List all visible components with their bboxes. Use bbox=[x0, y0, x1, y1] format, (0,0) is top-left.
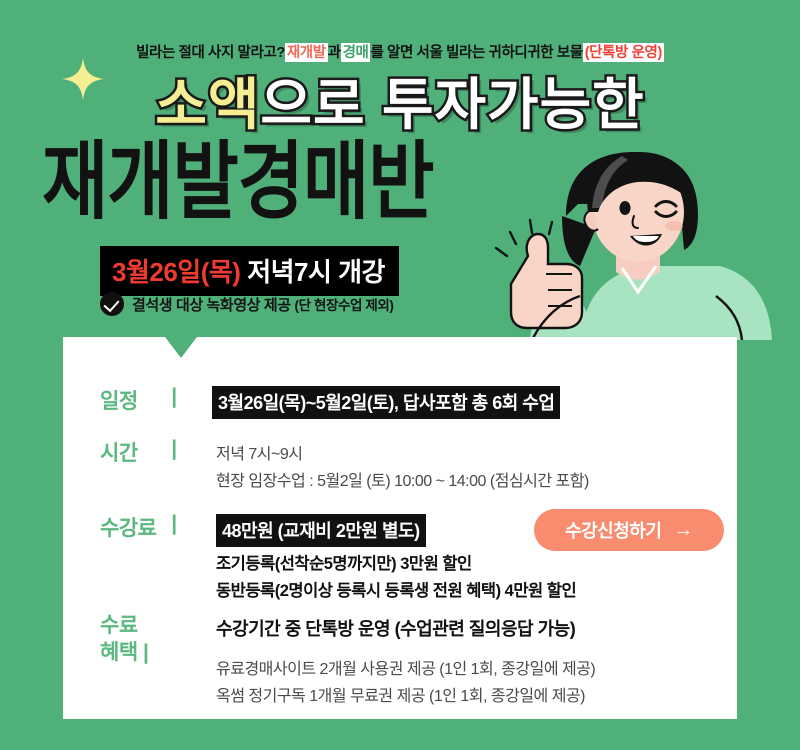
kicker-highlight-auction: 경매 bbox=[341, 43, 371, 62]
label-tuition: 수강료 | bbox=[100, 512, 186, 542]
label-tuition-bar: | bbox=[162, 512, 186, 542]
kicker-part2: 과 bbox=[328, 45, 341, 61]
recording-note-main: 결석생 대상 녹화영상 제공 bbox=[132, 297, 291, 314]
woman-thumbs-up-illustration bbox=[470, 150, 800, 340]
headline-highlight-small-amount: 소액 bbox=[155, 73, 260, 136]
label-schedule-bar: | bbox=[162, 385, 186, 415]
tuition-early-discount: 조기등록(선착순5명까지만) 3만원 할인 bbox=[216, 550, 576, 574]
label-benefits-line2: 혜택 | bbox=[100, 640, 148, 667]
info-row-time: 시간 | bbox=[100, 437, 186, 467]
kicker-highlight-chatroom: (단톡방 운영) bbox=[583, 43, 664, 62]
tuition-group-discount: 동반등록(2명이상 등록시 등록생 전원 혜택) 4만원 할인 bbox=[216, 577, 576, 601]
label-time-text: 시간 bbox=[100, 437, 162, 467]
value-schedule: 3월26일(목)~5월2일(토), 답사포함 총 6회 수업 bbox=[212, 386, 560, 422]
benefit-auction-site: 유료경매사이트 2개월 사용권 제공 (1인 1회, 종강일에 제공) bbox=[216, 655, 595, 679]
value-benefits: 수강기간 중 단톡방 운영 (수업관련 질의응답 가능) 유료경매사이트 2개월… bbox=[216, 615, 595, 709]
label-time-bar: | bbox=[162, 437, 186, 467]
headline-line-2: 재개발경매반 bbox=[42, 140, 433, 225]
label-schedule-text: 일정 bbox=[100, 385, 162, 415]
kicker-part3: 를 알면 서울 빌라는 귀하디귀한 보물 bbox=[370, 45, 582, 61]
card-notch-triangle bbox=[165, 337, 197, 358]
label-schedule: 일정 | bbox=[100, 385, 186, 415]
recording-note-row: 결석생 대상 녹화영상 제공 (단 현장수업 제외) bbox=[100, 292, 394, 316]
kicker-highlight-redevelopment: 재개발 bbox=[285, 43, 328, 62]
time-line-2: 현장 임장수업 : 5월2일 (토) 10:00 ~ 14:00 (점심시간 포… bbox=[216, 467, 589, 491]
start-date: 3월26일(목) bbox=[112, 257, 240, 287]
headline-line-1: 소액으로 투자가능한 bbox=[0, 77, 800, 133]
apply-button-label: 수강신청하기 bbox=[565, 517, 661, 543]
kicker-part1: 빌라는 절대 사지 말라고? bbox=[136, 45, 285, 61]
time-line-1: 저녁 7시~9시 bbox=[216, 440, 589, 464]
info-row-benefits: 수료 혜택 | bbox=[100, 613, 148, 667]
kicker-line: 빌라는 절대 사지 말라고?재개발과경매를 알면 서울 빌라는 귀하디귀한 보물… bbox=[0, 41, 800, 62]
check-circle-icon bbox=[100, 292, 124, 316]
benefit-oksum-subscription: 옥썸 정기구독 1개월 무료권 제공 (1인 1회, 종강일에 제공) bbox=[216, 682, 595, 706]
value-time: 저녁 7시~9시 현장 임장수업 : 5월2일 (토) 10:00 ~ 14:0… bbox=[216, 440, 589, 494]
tuition-highlight: 48만원 (교재비 2만원 별도) bbox=[216, 514, 426, 547]
apply-button[interactable]: 수강신청하기 → bbox=[534, 509, 724, 551]
schedule-highlight: 3월26일(목)~5월2일(토), 답사포함 총 6회 수업 bbox=[212, 386, 560, 419]
label-time: 시간 | bbox=[100, 437, 186, 467]
value-tuition: 48만원 (교재비 2만원 별도) 조기등록(선착순5명까지만) 3만원 할인 … bbox=[216, 514, 576, 604]
headline-line1-rest: 으로 투자가능한 bbox=[260, 73, 644, 136]
label-benefits-line1: 수료 bbox=[100, 613, 148, 640]
label-benefits: 수료 혜택 | bbox=[100, 613, 148, 667]
start-time: 저녁7시 개강 bbox=[240, 257, 385, 287]
arrow-right-icon: → bbox=[673, 520, 693, 540]
label-tuition-text: 수강료 bbox=[100, 512, 162, 542]
benefit-chatroom: 수강기간 중 단톡방 운영 (수업관련 질의응답 가능) bbox=[216, 615, 595, 641]
recording-note-paren: (단 현장수업 제외) bbox=[295, 298, 394, 313]
start-date-badge: 3월26일(목) 저녁7시 개강 bbox=[100, 246, 399, 296]
info-row-tuition: 수강료 | bbox=[100, 512, 186, 542]
recording-note-text: 결석생 대상 녹화영상 제공 (단 현장수업 제외) bbox=[132, 294, 394, 315]
info-row-schedule: 일정 | bbox=[100, 385, 186, 415]
